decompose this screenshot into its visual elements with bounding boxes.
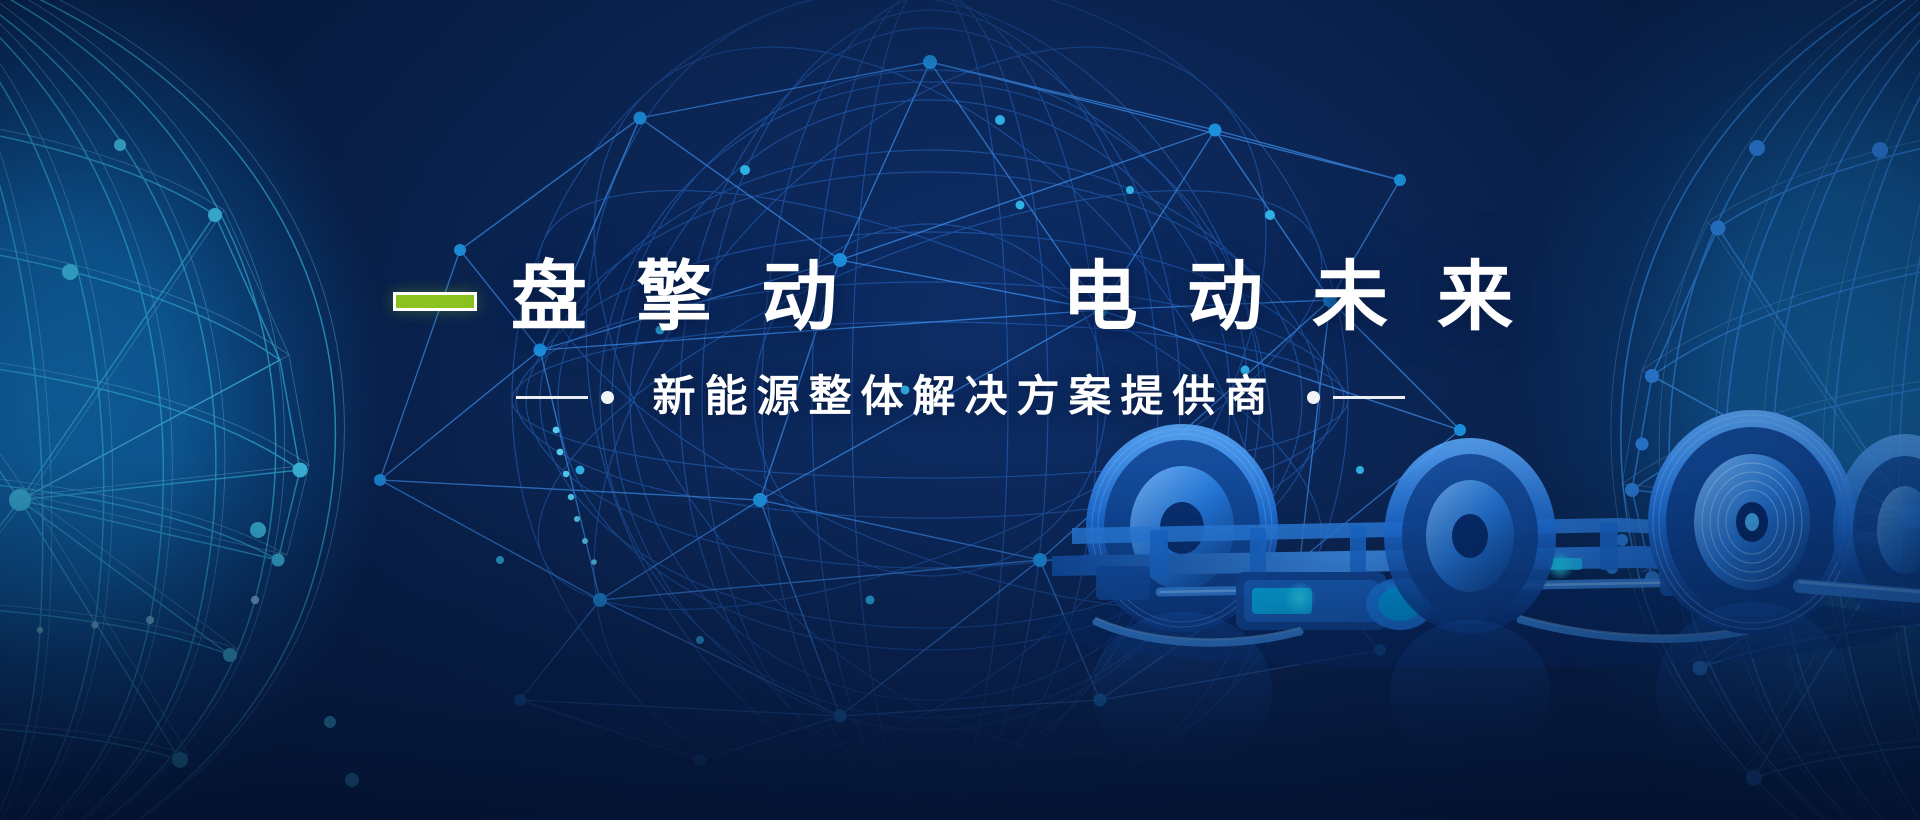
background-vignette bbox=[0, 0, 1920, 820]
hero-banner: 盘 擎 动 电 动 未 来 新能源整体解决方案提供商 bbox=[0, 0, 1920, 820]
